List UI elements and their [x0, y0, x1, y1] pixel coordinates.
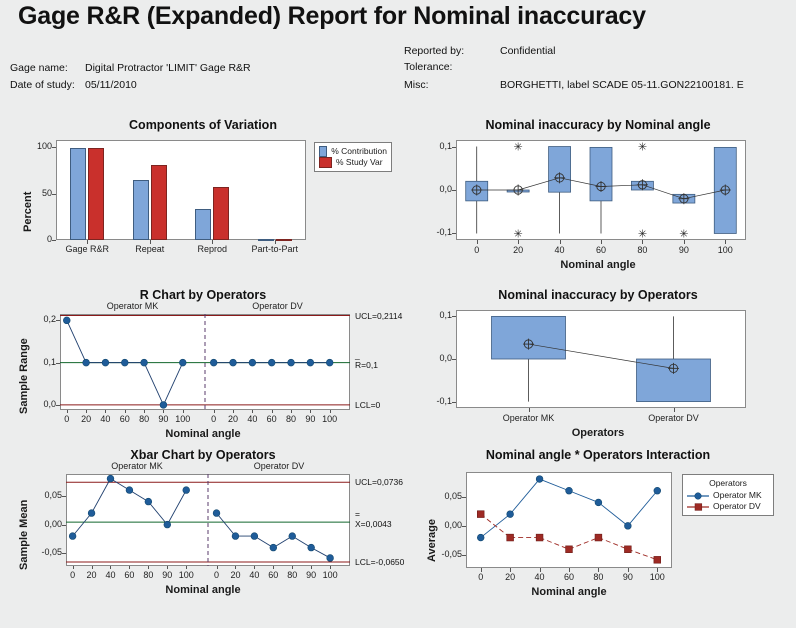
bar-reprod-contribution — [195, 209, 211, 240]
x-tick-mark — [150, 240, 151, 244]
reported-by-value: Confidential — [500, 45, 555, 57]
bar-gage-r-r-contribution — [70, 148, 86, 240]
x-tick-mark — [92, 566, 93, 569]
bar-repeat-study-var — [151, 165, 167, 240]
x-tick-mark — [510, 568, 511, 572]
group-label-mk: Operator MK — [87, 461, 187, 471]
group-label-dv: Operator DV — [228, 301, 328, 311]
y-axis-title: Percent — [22, 192, 34, 232]
x-tick-label: Operator MK — [479, 413, 579, 423]
chart-components-of-variation: Components of Variation050100PercentGage… — [8, 118, 398, 278]
svg-text:✳: ✳ — [679, 228, 688, 240]
x-tick-mark — [214, 410, 215, 413]
x-tick-mark — [148, 566, 149, 569]
lcl-label: LCL=-0,0650 — [355, 557, 404, 567]
x-tick-mark — [217, 566, 218, 569]
x-tick-mark — [163, 410, 164, 413]
svg-text:✳: ✳ — [638, 142, 647, 154]
svg-text:✳: ✳ — [514, 142, 523, 154]
center-line-bar: = — [355, 511, 360, 518]
x-axis-title: Operators — [404, 427, 792, 439]
x-tick-mark — [272, 410, 273, 413]
legend-label: % Contribution — [331, 146, 387, 157]
x-tick-label: 100 — [675, 245, 775, 255]
svg-text:✳: ✳ — [638, 228, 647, 240]
x-tick-mark — [235, 566, 236, 569]
bar-gage-r-r-study-var — [88, 148, 104, 240]
x-tick-label: 100 — [641, 572, 673, 582]
page-title: Gage R&R (Expanded) Report for Nominal i… — [18, 2, 646, 31]
ucl-label: UCL=0,2114 — [355, 311, 402, 321]
x-tick-label: 100 — [172, 570, 200, 580]
x-tick-label: 100 — [316, 570, 344, 580]
legend-label: Operator MK — [713, 490, 762, 501]
bar-repeat-contribution — [133, 180, 149, 240]
x-tick-mark — [330, 410, 331, 413]
x-tick-mark — [183, 410, 184, 413]
svg-text:✳: ✳ — [514, 228, 523, 240]
x-tick-mark — [518, 240, 519, 244]
x-tick-mark — [560, 240, 561, 244]
x-axis-title: Nominal angle — [404, 586, 734, 598]
x-tick-mark — [601, 240, 602, 244]
x-tick-mark — [167, 566, 168, 569]
x-tick-label: Part-to-Part — [235, 244, 315, 254]
x-tick-mark — [252, 410, 253, 413]
x-tick-mark — [725, 240, 726, 244]
x-tick-mark — [311, 566, 312, 569]
x-tick-mark — [674, 408, 675, 412]
chart-inaccuracy-by-operators: Nominal inaccuracy by Operators-0,10,00,… — [404, 288, 792, 443]
x-tick-mark — [330, 566, 331, 569]
tolerance-label: Tolerance: — [404, 61, 452, 73]
x-axis-title: Nominal angle — [404, 259, 792, 271]
y-tick-label: 100 — [22, 141, 52, 151]
date-of-study-label: Date of study: — [10, 79, 75, 91]
group-label-dv: Operator DV — [229, 461, 329, 471]
x-tick-mark — [477, 240, 478, 244]
legend: % Contribution% Study Var — [314, 142, 392, 172]
x-tick-mark — [254, 566, 255, 569]
x-tick-label: 0 — [465, 572, 497, 582]
x-tick-mark — [87, 240, 88, 244]
ucl-label: UCL=0,0736 — [355, 477, 403, 487]
legend-swatch — [319, 146, 327, 157]
reported-by-label: Reported by: — [404, 45, 464, 57]
legend-item: Operator DV — [687, 501, 769, 512]
misc-label: Misc: — [404, 79, 429, 91]
x-tick-mark — [569, 568, 570, 572]
gage-name-value: Digital Protractor 'LIMIT' Gage R&R — [85, 62, 251, 74]
x-tick-mark — [110, 566, 111, 569]
x-tick-label: 20 — [494, 572, 526, 582]
x-tick-label: 100 — [169, 414, 197, 424]
bar-part-to-part-study-var — [276, 239, 292, 241]
y-tick-label: 0 — [22, 234, 52, 244]
x-tick-mark — [186, 566, 187, 569]
legend-item: % Study Var — [319, 157, 387, 168]
x-tick-mark — [73, 566, 74, 569]
x-tick-mark — [86, 410, 87, 413]
center-line-label: R=0,1 — [355, 360, 378, 370]
lcl-label: LCL=0 — [355, 400, 380, 410]
chart-xbar-chart-by-operators: Xbar Chart by Operators-0,050,000,05Samp… — [8, 448, 398, 598]
bar-part-to-part-contribution — [258, 239, 274, 241]
x-tick-mark — [540, 568, 541, 572]
legend-label: % Study Var — [336, 157, 383, 168]
x-tick-mark — [310, 410, 311, 413]
x-tick-mark — [481, 568, 482, 572]
x-tick-mark — [129, 566, 130, 569]
x-tick-mark — [125, 410, 126, 413]
x-tick-mark — [642, 240, 643, 244]
center-line-bar: _ — [355, 352, 360, 359]
chart-inaccuracy-by-angle: Nominal inaccuracy by Nominal angle-0,10… — [404, 118, 792, 278]
x-tick-mark — [212, 240, 213, 244]
misc-value: BORGHETTI, label SCADE 05-11.GON22100181… — [500, 79, 744, 91]
x-tick-label: 80 — [582, 572, 614, 582]
x-tick-mark — [233, 410, 234, 413]
chart-title: Components of Variation — [8, 118, 398, 132]
y-tick-mark — [52, 194, 56, 195]
x-tick-label: Operator DV — [624, 413, 724, 423]
x-tick-mark — [529, 408, 530, 412]
x-tick-mark — [628, 568, 629, 572]
chart-r-chart-by-operators: R Chart by Operators0,00,10,2Sample Rang… — [8, 288, 398, 443]
x-tick-mark — [598, 568, 599, 572]
x-tick-mark — [105, 410, 106, 413]
x-tick-mark — [292, 566, 293, 569]
bar-reprod-study-var — [213, 187, 229, 240]
legend: OperatorsOperator MKOperator DV — [682, 474, 774, 516]
y-tick-mark — [52, 147, 56, 148]
x-tick-label: 40 — [524, 572, 556, 582]
legend-marker — [687, 491, 709, 501]
legend-item: % Contribution — [319, 146, 387, 157]
date-of-study-value: 05/11/2010 — [85, 79, 137, 91]
x-tick-mark — [291, 410, 292, 413]
legend-swatch — [319, 157, 332, 168]
x-tick-mark — [67, 410, 68, 413]
x-tick-mark — [273, 566, 274, 569]
x-tick-label: 60 — [553, 572, 585, 582]
gage-name-label: Gage name: — [10, 62, 68, 74]
x-axis-title: Nominal angle — [8, 428, 398, 440]
y-tick-mark — [52, 240, 56, 241]
group-label-mk: Operator MK — [83, 301, 183, 311]
legend-label: Operator DV — [713, 501, 761, 512]
x-tick-mark — [657, 568, 658, 572]
legend-marker — [687, 502, 709, 512]
legend-item: Operator MK — [687, 490, 769, 501]
x-tick-mark — [144, 410, 145, 413]
x-tick-label: 90 — [612, 572, 644, 582]
x-axis-title: Nominal angle — [8, 584, 398, 596]
center-line-label: X=0,0043 — [355, 519, 392, 529]
legend-title: Operators — [687, 478, 769, 488]
x-tick-mark — [684, 240, 685, 244]
chart-angle-operators-interaction: Nominal angle * Operators Interaction-0,… — [404, 448, 792, 598]
x-tick-label: 100 — [316, 414, 344, 424]
